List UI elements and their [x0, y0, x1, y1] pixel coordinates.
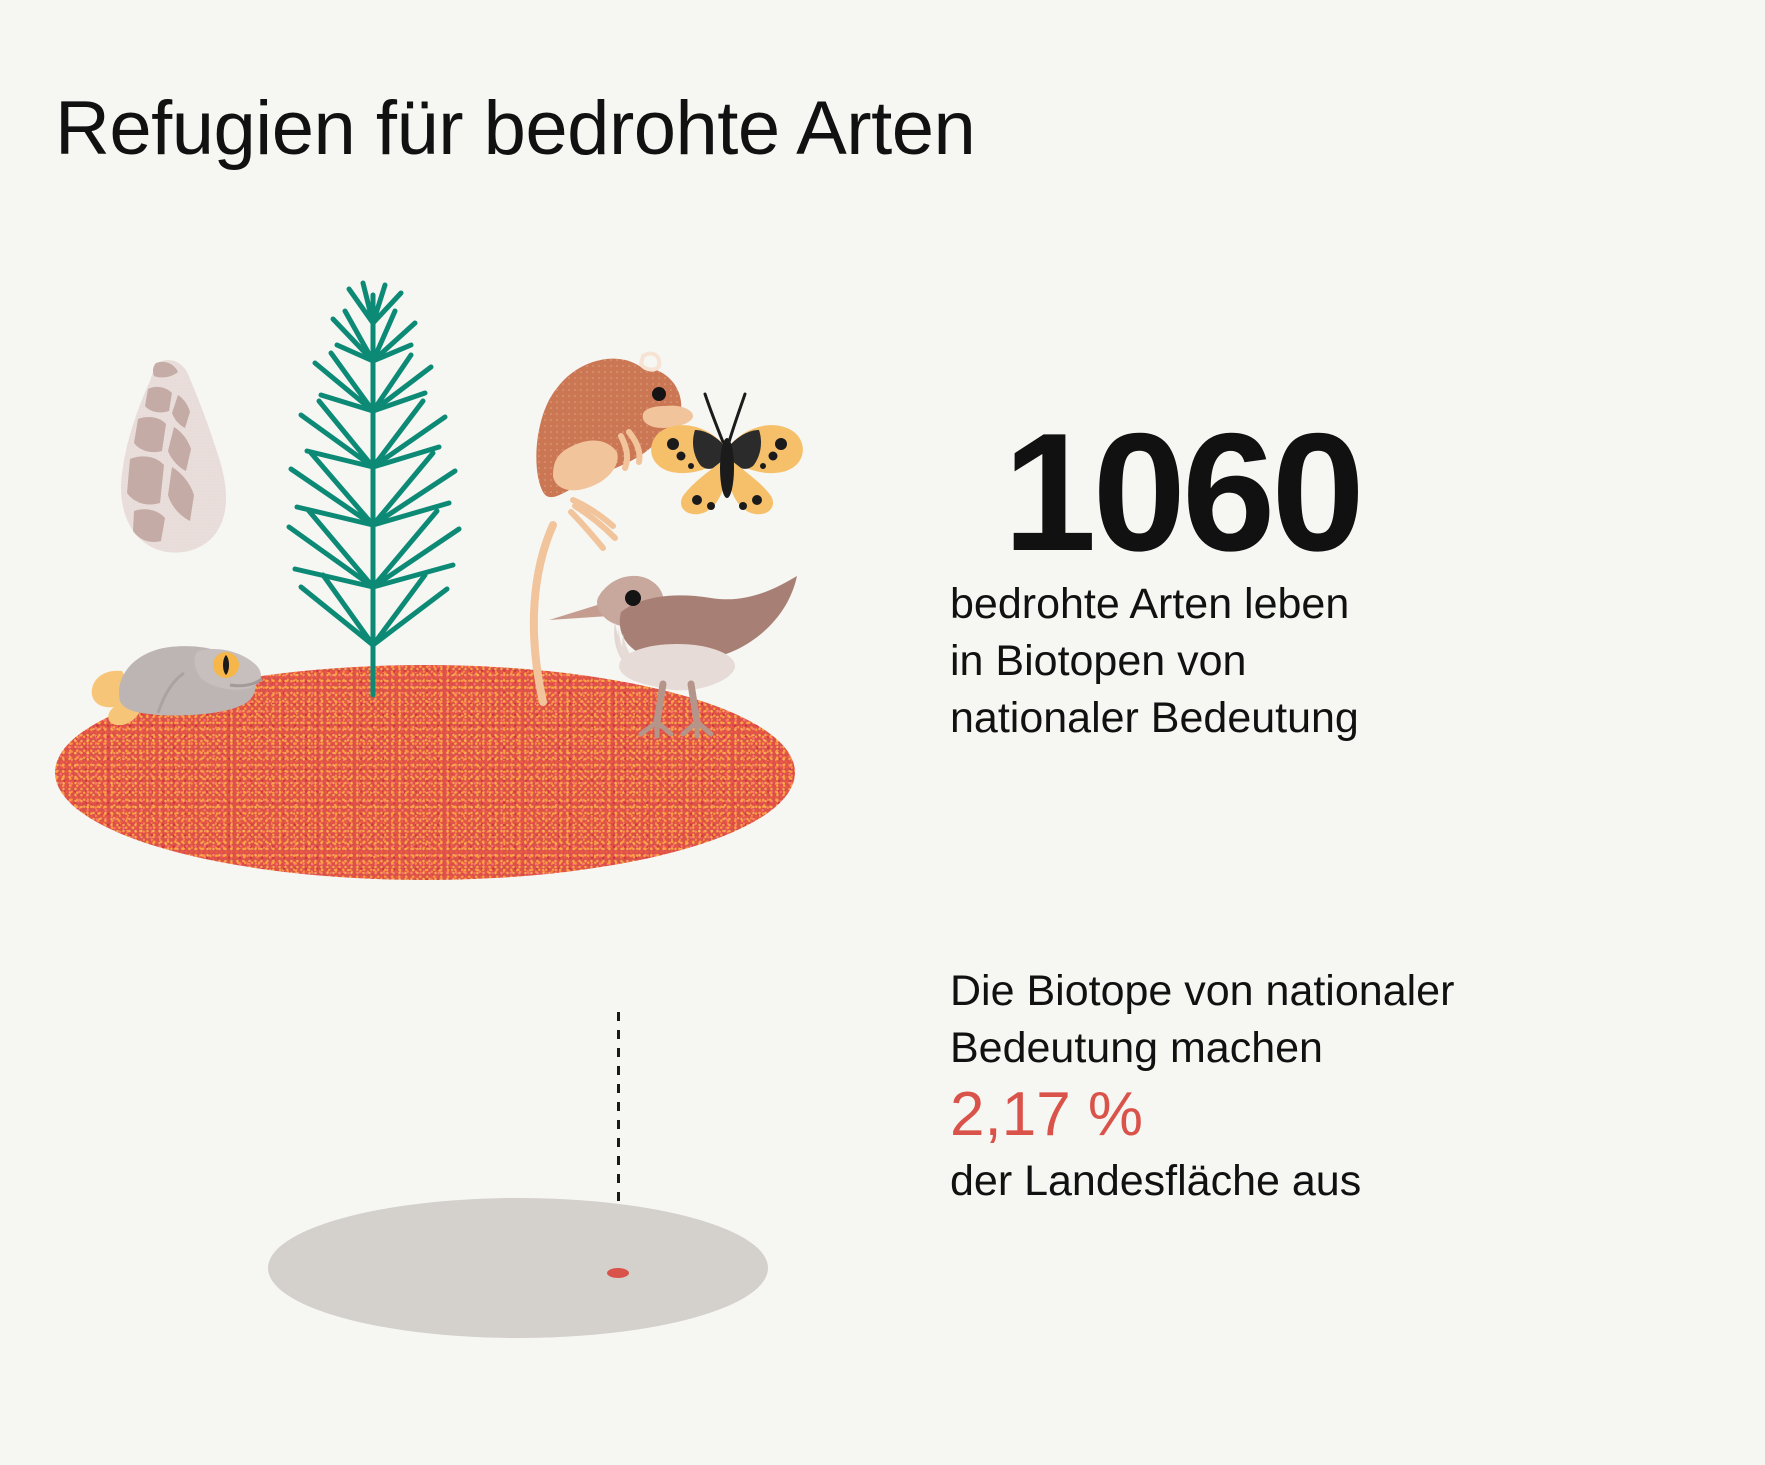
small-red-area-dot	[607, 1268, 629, 1278]
primary-stat-value: 1060	[950, 415, 1510, 570]
primary-stat-line-3: nationaler Bedeutung	[950, 690, 1510, 747]
secondary-stat-line-2: Bedeutung machen	[950, 1020, 1550, 1077]
primary-stat-description: bedrohte Arten leben in Biotopen von nat…	[950, 576, 1510, 748]
infographic-page: Refugien für bedrohte Arten	[0, 0, 1765, 1465]
wading-bird-icon	[515, 550, 805, 740]
primary-stat-line-2: in Biotopen von	[950, 633, 1510, 690]
grey-land-ellipse	[268, 1198, 768, 1338]
secondary-stat-line-3: der Landesfläche aus	[950, 1153, 1550, 1210]
snail-shell-icon	[100, 355, 250, 560]
primary-stat-block: 1060 bedrohte Arten leben in Biotopen vo…	[950, 415, 1510, 747]
secondary-stat-line-1: Die Biotope von nationaler	[950, 963, 1550, 1020]
illustration-stage	[0, 150, 950, 1300]
butterfly-icon	[645, 390, 805, 520]
conifer-plant-icon	[275, 275, 505, 705]
secondary-stat-percent: 2,17 %	[950, 1077, 1550, 1153]
primary-stat-line-1: bedrohte Arten leben	[950, 576, 1510, 633]
secondary-stat-block: Die Biotope von nationaler Bedeutung mac…	[950, 963, 1550, 1210]
toad-icon	[80, 615, 280, 735]
